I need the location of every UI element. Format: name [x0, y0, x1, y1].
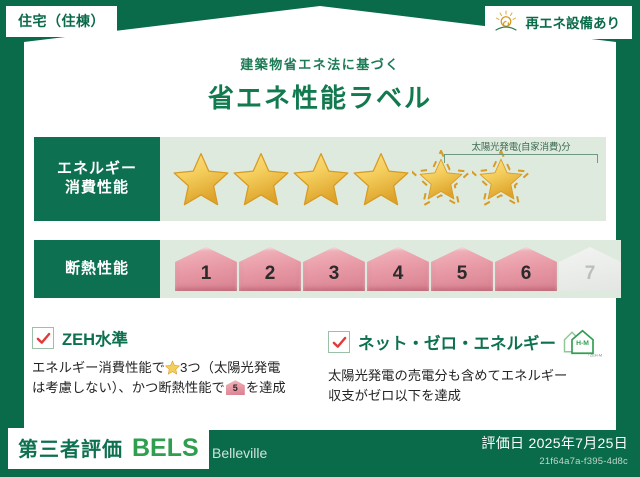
- zeh-desc-part3: は考慮しない）、かつ断熱性能で: [32, 380, 225, 395]
- zeh-m-logo-icon: H-M 「ZEH-M」: [560, 326, 602, 358]
- net-zero-energy-checkbox[interactable]: [328, 331, 350, 353]
- star-icon-filled: [292, 150, 350, 208]
- insulation-key-label: 断熱性能: [65, 260, 129, 279]
- energy-key-line2: 消費性能: [65, 179, 129, 198]
- zeh-desc-part1: エネルギー消費性能で: [32, 360, 165, 375]
- nze-desc-line1: 太陽光発電の売電分も含めてエネルギー: [328, 368, 567, 383]
- building-type-label: 住宅（住棟）: [18, 13, 105, 29]
- insulation-grade-7: 7: [559, 247, 621, 291]
- star-icon-filled: [352, 150, 410, 208]
- zeh-m-logo-caption: 「ZEH-M」: [586, 352, 602, 357]
- zeh-m-logo-text: H-M: [576, 340, 589, 347]
- star-icon-inline: [165, 360, 180, 375]
- insulation-grade-label: 5: [457, 263, 468, 291]
- energy-key-line1: エネルギー: [57, 160, 137, 179]
- net-zero-energy-description: 太陽光発電の売電分も含めてエネルギー 収支がゼロ以下を達成: [328, 366, 600, 406]
- insulation-performance-key: 断熱性能: [34, 240, 160, 298]
- zeh-desc-part2: 3つ（太陽光発電: [180, 360, 280, 375]
- star-icon-filled: [232, 150, 290, 208]
- insulation-grade-4: 4: [367, 247, 429, 291]
- insulation-grade-label: 1: [201, 263, 212, 291]
- insulation-grade-2: 2: [239, 247, 301, 291]
- insulation-grade-1: 1: [175, 247, 237, 291]
- evaluation-meta: 評価日 2025年7月25日 21f64a7a-f395-4d8c: [481, 433, 628, 467]
- solar-annotation-bracket: [444, 154, 598, 163]
- renewable-energy-label: 再エネ設備あり: [526, 12, 621, 32]
- insulation-grade-label: 2: [265, 263, 276, 291]
- solar-annotation-label: 太陽光発電(自家消費)分: [444, 139, 598, 153]
- criteria-net-zero-energy: ネット・ゼロ・エネルギー H-M 「ZEH-M」 太陽光発電の売電分も含めてエネ…: [328, 326, 600, 406]
- inline-grade-label: 5: [226, 380, 245, 395]
- net-zero-energy-title: ネット・ゼロ・エネルギー: [358, 330, 556, 354]
- energy-label-root: 住宅（住棟） 再エネ設備あり 建築物省エネ法に基づく 省エネ性能ラベル エネルギ…: [0, 0, 640, 477]
- label-subtitle: 建築物省エネ法に基づく: [0, 54, 640, 73]
- insulation-grade-label: 7: [585, 263, 596, 291]
- nze-desc-line2: 収支がゼロ以下を達成: [328, 388, 461, 403]
- bels-certification-badge: 第三者評価 BELS: [8, 428, 209, 469]
- energy-performance-value: 太陽光発電(自家消費)分: [160, 137, 606, 221]
- check-icon: [36, 331, 51, 346]
- zeh-standard-checkbox[interactable]: [32, 327, 54, 349]
- insulation-grade-label: 4: [393, 263, 404, 291]
- insulation-performance-row: 断熱性能 1 2 3 4: [34, 240, 606, 298]
- insulation-grade-label: 3: [329, 263, 340, 291]
- energy-performance-row: エネルギー 消費性能: [34, 137, 606, 221]
- sun-icon: [493, 10, 519, 34]
- insulation-grade-6: 6: [495, 247, 557, 291]
- label-title: 省エネ性能ラベル: [0, 78, 640, 115]
- inline-grade-badge: 5: [226, 380, 245, 395]
- label-title-block: 建築物省エネ法に基づく 省エネ性能ラベル: [0, 54, 640, 115]
- insulation-grade-3: 3: [303, 247, 365, 291]
- solar-annotation: 太陽光発電(自家消費)分: [444, 139, 598, 163]
- zeh-desc-part4: を達成: [246, 380, 286, 395]
- energy-performance-key: エネルギー 消費性能: [34, 137, 160, 221]
- evaluation-date: 評価日 2025年7月25日: [481, 433, 628, 453]
- insulation-grade-label: 6: [521, 263, 532, 291]
- zeh-standard-title: ZEH水準: [62, 326, 128, 350]
- criteria-zeh-header: ZEH水準: [32, 326, 304, 350]
- renewable-energy-chip: 再エネ設備あり: [485, 6, 633, 39]
- bels-logo-text: BELS: [132, 434, 199, 463]
- insulation-grade-5: 5: [431, 247, 493, 291]
- zeh-standard-description: エネルギー消費性能で3つ（太陽光発電 は考慮しない）、かつ断熱性能で5を達成: [32, 358, 304, 398]
- star-icon-filled: [172, 150, 230, 208]
- check-icon: [332, 335, 347, 350]
- insulation-performance-value: 1 2 3 4 5: [160, 240, 621, 298]
- third-party-eval-label: 第三者評価: [18, 433, 123, 462]
- brand-name: Belleville: [212, 445, 267, 461]
- insulation-grade-scale: 1 2 3 4 5: [175, 247, 621, 291]
- building-type-chip: 住宅（住棟）: [6, 6, 117, 37]
- document-id: 21f64a7a-f395-4d8c: [481, 456, 628, 467]
- criteria-zeh-standard: ZEH水準 エネルギー消費性能で3つ（太陽光発電 は考慮しない）、かつ断熱性能で…: [32, 326, 304, 398]
- criteria-nze-header: ネット・ゼロ・エネルギー H-M 「ZEH-M」: [328, 326, 600, 358]
